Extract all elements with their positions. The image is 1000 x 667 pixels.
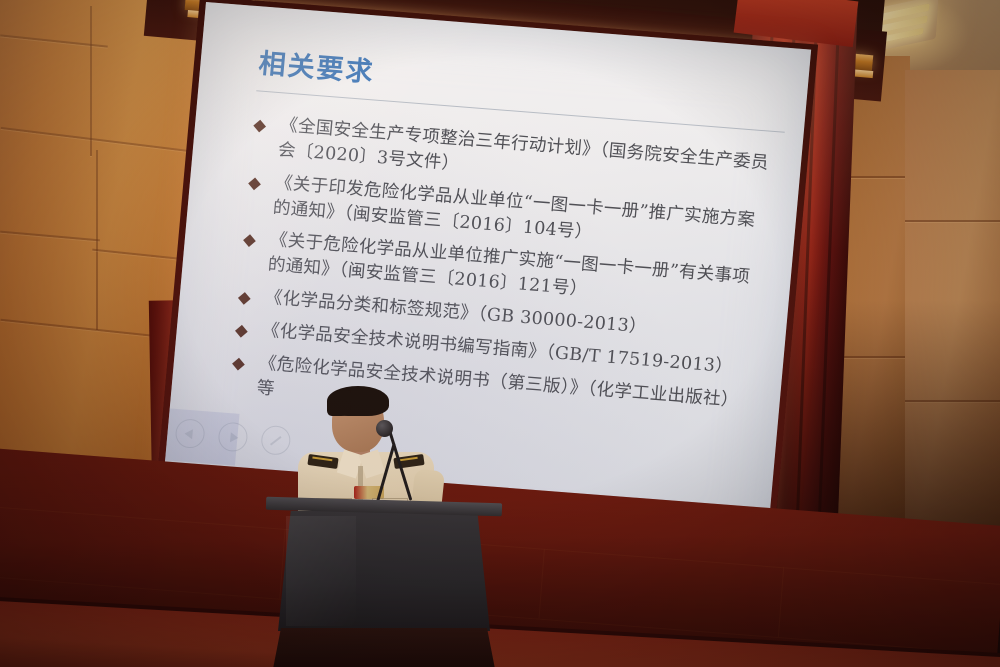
diamond-bullet-icon — [232, 358, 245, 371]
gooseneck-microphone — [376, 420, 393, 437]
play-icon[interactable] — [217, 421, 248, 452]
previous-slide-icon[interactable] — [174, 418, 205, 449]
speaking-podium — [266, 500, 502, 667]
pen-icon[interactable] — [260, 425, 291, 456]
conference-hall: 相关要求 《全国安全生产专项整治三年行动计划》（国务院安全生产委员会〔2020〕… — [0, 0, 1000, 667]
diamond-bullet-icon — [235, 325, 248, 338]
podium-highlight — [286, 516, 356, 626]
diamond-bullet-icon — [238, 292, 251, 305]
diamond-bullet-icon — [248, 177, 261, 190]
slide-title: 相关要求 — [258, 50, 782, 118]
diamond-bullet-icon — [243, 235, 256, 248]
diamond-bullet-icon — [253, 120, 266, 133]
hair-side — [327, 390, 351, 416]
podium-base — [272, 628, 496, 667]
photo-scene: 相关要求 《全国安全生产专项整治三年行动计划》（国务院安全生产委员会〔2020〕… — [0, 0, 1000, 667]
